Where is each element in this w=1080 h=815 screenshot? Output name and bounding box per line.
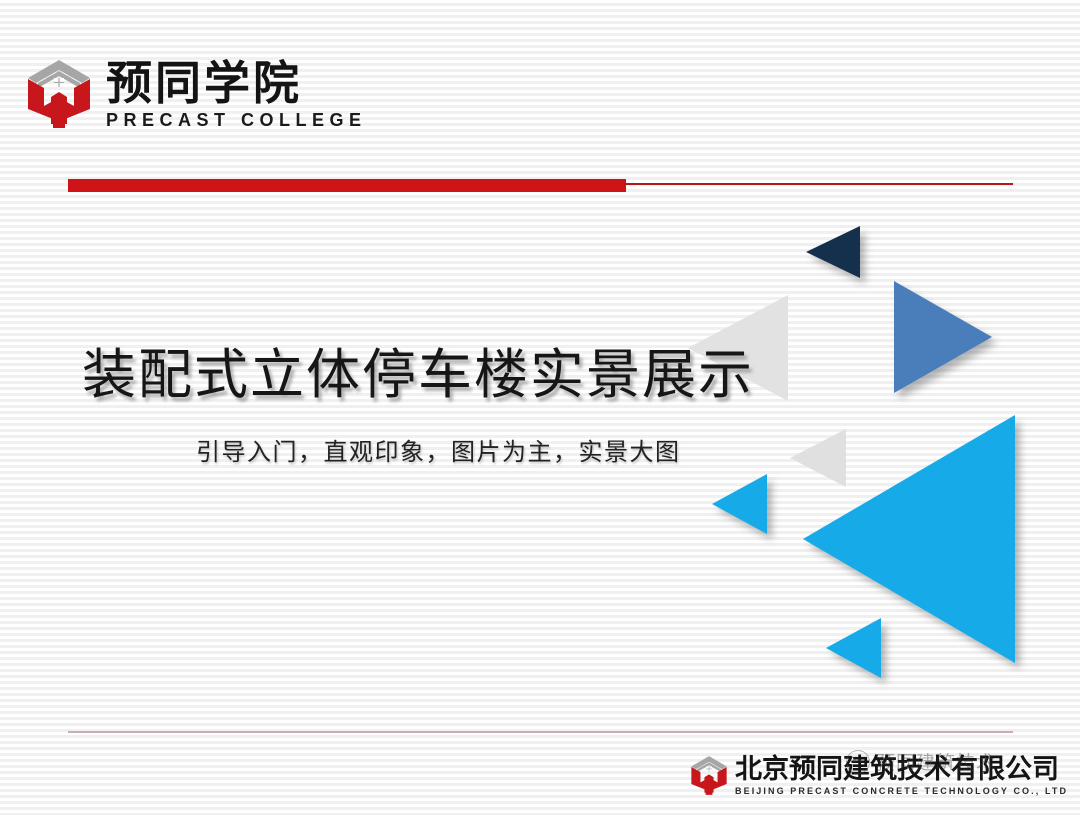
- top-divider-thin-line: [624, 183, 1013, 185]
- header-logo-en: PRECAST COLLEGE: [106, 110, 367, 131]
- triangle-blue-medium: [894, 281, 992, 393]
- header-brand-logo: 预同学院 PRECAST COLLEGE: [26, 58, 367, 131]
- precast-cube-logo-icon: [690, 755, 728, 796]
- slide-title: 装配式立体停车楼实景展示: [82, 330, 754, 409]
- bottom-divider: [68, 731, 1013, 733]
- footer-logo-en: BEIJING PRECAST CONCRETE TECHNOLOGY CO.,…: [735, 786, 1068, 796]
- top-divider-thick-bar: [68, 179, 626, 192]
- top-divider: [68, 179, 1013, 192]
- footer-logo-cn: 北京预同建筑技术有限公司: [735, 756, 1068, 783]
- triangle-cyan-small-lower: [826, 618, 881, 678]
- presentation-slide: 预同学院 PRECAST COLLEGE 装配式立体停车楼实景展示 引导入门，直…: [0, 0, 1080, 815]
- triangle-navy: [806, 226, 860, 278]
- footer-company-logo: 北京预同建筑技术有限公司 BEIJING PRECAST CONCRETE TE…: [690, 755, 1068, 796]
- precast-cube-logo-icon: [26, 58, 92, 130]
- slide-subtitle: 引导入门，直观印象，图片为主，实景大图: [196, 432, 681, 467]
- footer-logo-text: 北京预同建筑技术有限公司 BEIJING PRECAST CONCRETE TE…: [735, 756, 1068, 796]
- header-logo-cn: 预同学院: [106, 60, 367, 107]
- triangle-cyan-small-upper: [712, 474, 767, 534]
- header-logo-text: 预同学院 PRECAST COLLEGE: [106, 60, 367, 131]
